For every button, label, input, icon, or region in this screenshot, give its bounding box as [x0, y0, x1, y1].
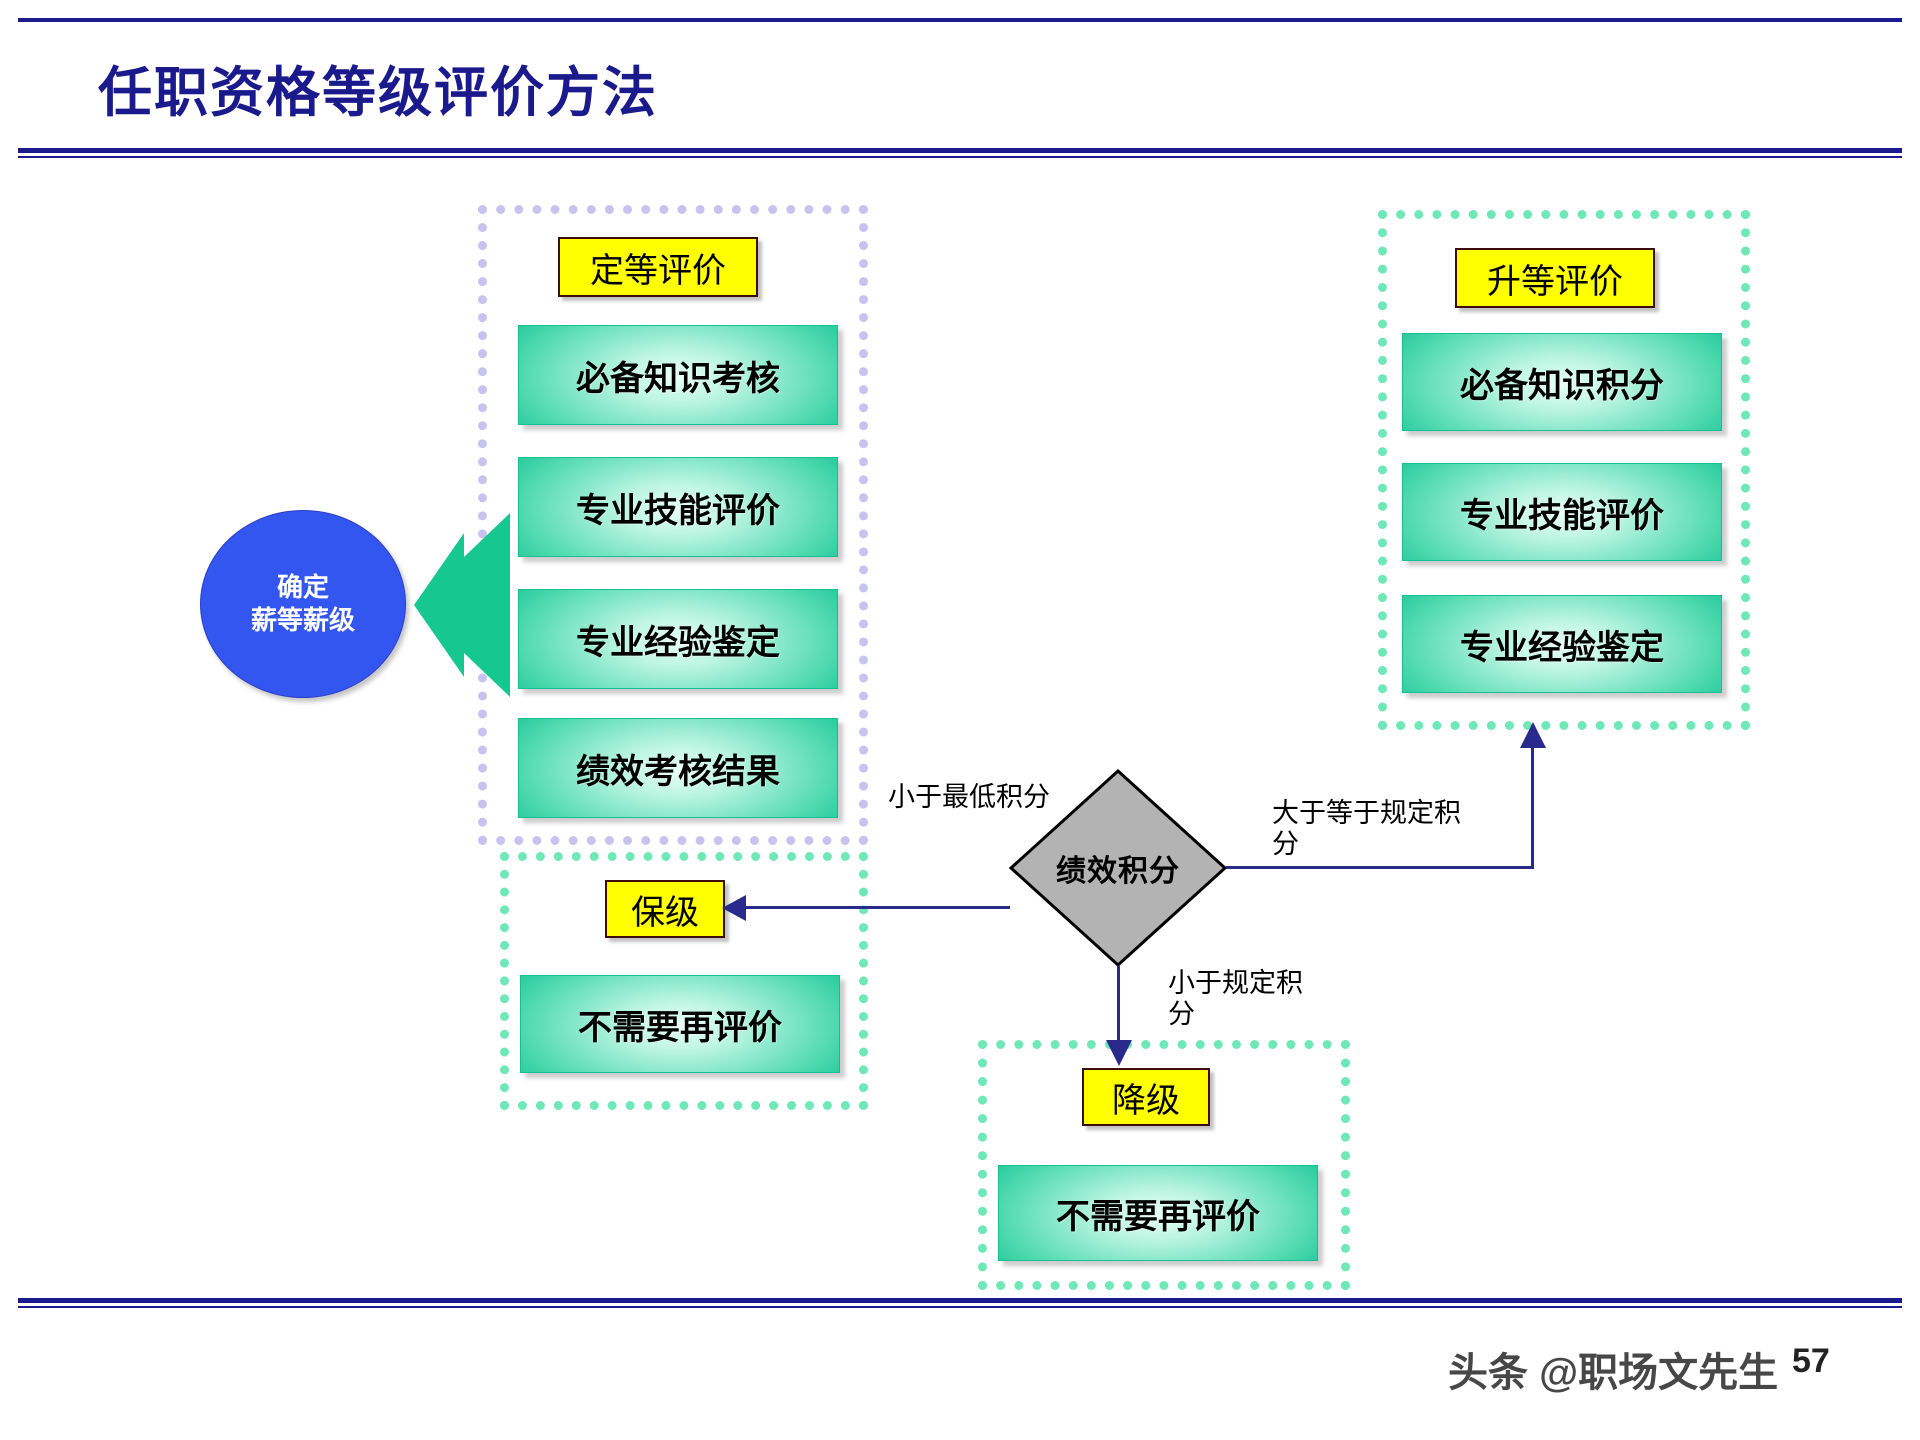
promotion-item-2[interactable]: 专业经验鉴定 — [1402, 595, 1722, 693]
group-retain-caption: 保级 — [605, 880, 725, 938]
watermark-text: 头条 @职场文先生 — [1448, 1340, 1778, 1398]
edge-label-to-retain: 小于最低积分 — [888, 782, 1050, 813]
result-node-confirm-salary-grade[interactable]: 确定 薪等薪级 — [200, 510, 406, 698]
edge-line-to-retain — [740, 906, 1010, 909]
promotion-item-0[interactable]: 必备知识积分 — [1402, 333, 1722, 431]
grading-item-1[interactable]: 专业技能评价 — [518, 457, 838, 557]
grading-item-0[interactable]: 必备知识考核 — [518, 325, 838, 425]
group-grading-caption: 定等评价 — [558, 237, 758, 297]
result-node-line1: 确定 — [277, 571, 329, 604]
demotion-item-0[interactable]: 不需要再评价 — [998, 1165, 1318, 1261]
title-underline-thin — [18, 156, 1902, 158]
slide-canvas: 任职资格等级评价方法 定等评价 必备知识考核 专业技能评价 专业经验鉴定 绩效考… — [0, 0, 1920, 1440]
edge-arrowhead-to-promotion-icon — [1520, 722, 1546, 748]
top-rule — [18, 18, 1902, 22]
retain-item-0[interactable]: 不需要再评价 — [520, 975, 840, 1073]
page-title: 任职资格等级评价方法 — [98, 48, 658, 127]
edge-line-to-promotion-vertical — [1531, 742, 1534, 869]
group-demotion-caption: 降级 — [1082, 1068, 1210, 1126]
bottom-rule-thin — [18, 1306, 1902, 1308]
edge-line-to-promotion-horizontal — [1226, 866, 1534, 869]
edge-arrowhead-to-demotion-icon — [1106, 1040, 1132, 1066]
result-node-line2: 薪等薪级 — [251, 604, 355, 637]
edge-arrowhead-to-retain-icon — [722, 895, 746, 921]
grading-item-2[interactable]: 专业经验鉴定 — [518, 589, 838, 689]
promotion-item-1[interactable]: 专业技能评价 — [1402, 463, 1722, 561]
group-promotion-caption: 升等评价 — [1455, 248, 1655, 308]
page-number: 57 — [1792, 1342, 1830, 1381]
bottom-rule-thick — [18, 1298, 1902, 1303]
edge-label-to-promotion: 大于等于规定积 分 — [1272, 798, 1522, 860]
arrow-to-result-icon — [414, 505, 510, 705]
grading-item-3[interactable]: 绩效考核结果 — [518, 718, 838, 818]
edge-label-to-demotion: 小于规定积 分 — [1168, 968, 1388, 1030]
title-underline-thick — [18, 148, 1902, 153]
